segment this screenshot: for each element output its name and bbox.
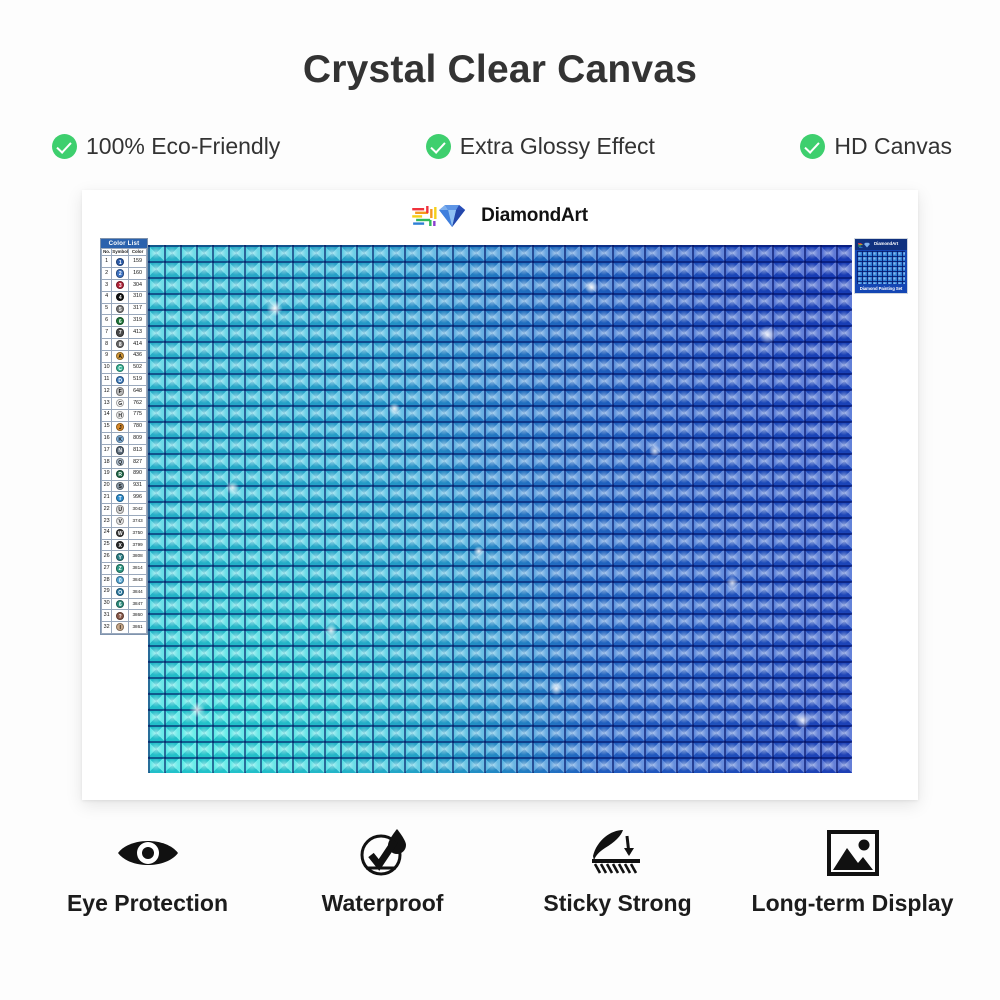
cell-color-code: 3042 xyxy=(129,504,147,516)
table-row: 2803843 xyxy=(102,574,147,586)
eye-icon xyxy=(116,833,180,873)
cell-symbol: G xyxy=(112,397,129,409)
symbol-swatch-icon: ? xyxy=(116,612,124,620)
cell-symbol: U xyxy=(112,504,129,516)
table-row: 13G762 xyxy=(102,397,147,409)
symbol-swatch-icon: S xyxy=(116,482,124,490)
table-row: 29O3844 xyxy=(102,586,147,598)
cell-symbol: 7 xyxy=(112,327,129,339)
column-header-no: No. xyxy=(102,249,112,256)
cell-color-code: 3808 xyxy=(129,551,147,563)
brand-logo: DiamondArt xyxy=(412,202,588,230)
table-row: 21T996 xyxy=(102,492,147,504)
thumbnail-header: DiamondArt xyxy=(855,239,907,250)
cell-no: 5 xyxy=(102,303,112,315)
cell-no: 30 xyxy=(102,598,112,610)
cell-no: 27 xyxy=(102,563,112,575)
cell-symbol: A xyxy=(112,350,129,362)
cell-no: 25 xyxy=(102,539,112,551)
check-circle-icon xyxy=(800,134,825,159)
symbol-swatch-icon: R xyxy=(116,470,124,478)
cell-color-code: 931 xyxy=(129,480,147,492)
color-list-title: Color List xyxy=(101,239,147,248)
symbol-swatch-icon: W xyxy=(116,529,124,537)
symbol-swatch-icon: 2 xyxy=(116,269,124,277)
cell-no: 14 xyxy=(102,409,112,421)
cell-no: 21 xyxy=(102,492,112,504)
cell-color-code: 3750 xyxy=(129,527,147,539)
symbol-swatch-icon: U xyxy=(116,505,124,513)
cell-symbol: D xyxy=(112,374,129,386)
benefit-item-waterproof: Waterproof xyxy=(265,828,500,917)
table-row: 16K809 xyxy=(102,433,147,445)
table-row: 27Z3814 xyxy=(102,563,147,575)
cell-color-code: 3743 xyxy=(129,515,147,527)
cell-no: 32 xyxy=(102,622,112,634)
table-row: 88414 xyxy=(102,338,147,350)
color-list-header-row: No. Symbol Color xyxy=(102,249,147,256)
cell-no: 2 xyxy=(102,268,112,280)
cell-no: 11 xyxy=(102,374,112,386)
droplet-check-icon xyxy=(356,827,410,879)
cell-color-code: 160 xyxy=(129,268,147,280)
diamond-painting-mosaic xyxy=(148,245,852,773)
table-row: 20S931 xyxy=(102,480,147,492)
feature-item: HD Canvas xyxy=(800,133,952,160)
cell-no: 31 xyxy=(102,610,112,622)
color-list-table: Color List No. Symbol Color 111592216033… xyxy=(100,238,148,635)
cell-no: 13 xyxy=(102,397,112,409)
benefit-icon-wrap xyxy=(589,828,647,878)
symbol-swatch-icon: H xyxy=(116,411,124,419)
table-row: 11D519 xyxy=(102,374,147,386)
table-row: 17N813 xyxy=(102,445,147,457)
benefit-label: Sticky Strong xyxy=(543,890,691,917)
cell-symbol: 6 xyxy=(112,598,129,610)
cell-no: 7 xyxy=(102,327,112,339)
cell-no: 8 xyxy=(102,338,112,350)
symbol-swatch-icon: V xyxy=(116,517,124,525)
cell-symbol: X xyxy=(112,539,129,551)
cell-color-code: 3844 xyxy=(129,586,147,598)
table-row: 31?3860 xyxy=(102,610,147,622)
cell-no: 9 xyxy=(102,350,112,362)
benefit-icon-wrap xyxy=(356,828,410,878)
table-row: 15J780 xyxy=(102,421,147,433)
symbol-swatch-icon: O xyxy=(116,588,124,596)
cell-color-code: 310 xyxy=(129,291,147,303)
symbol-swatch-icon: K xyxy=(116,435,124,443)
benefit-icon-wrap xyxy=(827,828,879,878)
table-row: 11159 xyxy=(102,256,147,268)
cell-color-code: 519 xyxy=(129,374,147,386)
product-feature-page: Crystal Clear Canvas 100% Eco-Friendly E… xyxy=(0,0,1000,1000)
cell-color-code: 996 xyxy=(129,492,147,504)
symbol-swatch-icon: G xyxy=(116,399,124,407)
cell-color-code: 648 xyxy=(129,386,147,398)
symbol-swatch-icon: A xyxy=(116,352,124,360)
cell-no: 22 xyxy=(102,504,112,516)
symbol-swatch-icon: 4 xyxy=(116,293,124,301)
feature-list: 100% Eco-Friendly Extra Glossy Effect HD… xyxy=(52,133,952,160)
cell-symbol: 2 xyxy=(112,268,129,280)
cell-color-code: 3799 xyxy=(129,539,147,551)
benefit-label: Long-term Display xyxy=(752,890,954,917)
table-row: 18Q827 xyxy=(102,456,147,468)
table-row: 23V3743 xyxy=(102,515,147,527)
symbol-swatch-icon: 3 xyxy=(116,281,124,289)
symbol-swatch-icon: 0 xyxy=(116,576,124,584)
cell-symbol: R xyxy=(112,468,129,480)
cell-no: 3 xyxy=(102,280,112,292)
feature-label: Extra Glossy Effect xyxy=(460,133,655,160)
cell-no: 10 xyxy=(102,362,112,374)
feature-label: 100% Eco-Friendly xyxy=(86,133,280,160)
symbol-swatch-icon: 8 xyxy=(116,340,124,348)
symbol-swatch-icon: F xyxy=(116,387,124,395)
canvas-preview-card: DiamondArt Color List No. Symbol Color 1… xyxy=(82,190,918,800)
table-row: 55317 xyxy=(102,303,147,315)
table-row: 66319 xyxy=(102,315,147,327)
table-row: 22U3042 xyxy=(102,504,147,516)
thumbnail-mosaic xyxy=(857,251,905,284)
cell-symbol: 3 xyxy=(112,280,129,292)
symbol-swatch-icon: D xyxy=(116,376,124,384)
cell-no: 23 xyxy=(102,515,112,527)
cell-symbol: 6 xyxy=(112,315,129,327)
cell-color-code: 304 xyxy=(129,280,147,292)
cell-color-code: 502 xyxy=(129,362,147,374)
cell-color-code: 813 xyxy=(129,445,147,457)
symbol-swatch-icon: I xyxy=(116,623,124,631)
cell-symbol: ? xyxy=(112,610,129,622)
thumbnail-brand: DiamondArt xyxy=(874,241,898,246)
cell-no: 28 xyxy=(102,574,112,586)
feature-item: 100% Eco-Friendly xyxy=(52,133,280,160)
symbol-swatch-icon: C xyxy=(116,364,124,372)
table-row: 26Y3808 xyxy=(102,551,147,563)
table-row: 12F648 xyxy=(102,386,147,398)
adhesive-icon xyxy=(589,828,647,878)
cell-symbol: N xyxy=(112,445,129,457)
benefit-item-eye-protection: Eye Protection xyxy=(30,828,265,917)
cell-no: 18 xyxy=(102,456,112,468)
cell-symbol: 4 xyxy=(112,291,129,303)
cell-symbol: W xyxy=(112,527,129,539)
cell-no: 17 xyxy=(102,445,112,457)
benefit-label: Waterproof xyxy=(322,890,444,917)
cell-symbol: Q xyxy=(112,456,129,468)
symbol-swatch-icon: 5 xyxy=(116,305,124,313)
cell-symbol: J xyxy=(112,421,129,433)
cell-no: 12 xyxy=(102,386,112,398)
table-row: 14H775 xyxy=(102,409,147,421)
symbol-swatch-icon: N xyxy=(116,446,124,454)
diamond-logo-icon xyxy=(858,242,872,248)
table-row: 77413 xyxy=(102,327,147,339)
symbol-swatch-icon: Z xyxy=(116,564,124,572)
cell-color-code: 3860 xyxy=(129,610,147,622)
benefit-item-long-term-display: Long-term Display xyxy=(735,828,970,917)
diamond-logo-icon xyxy=(412,202,474,230)
cell-no: 24 xyxy=(102,527,112,539)
table-row: 10C502 xyxy=(102,362,147,374)
cell-color-code: 780 xyxy=(129,421,147,433)
cell-symbol: Z xyxy=(112,563,129,575)
cell-no: 6 xyxy=(102,315,112,327)
cell-symbol: O xyxy=(112,586,129,598)
cell-no: 19 xyxy=(102,468,112,480)
cell-color-code: 890 xyxy=(129,468,147,480)
column-header-symbol: Symbol xyxy=(112,249,129,256)
check-circle-icon xyxy=(426,134,451,159)
cell-no: 4 xyxy=(102,291,112,303)
symbol-swatch-icon: Q xyxy=(116,458,124,466)
cell-symbol: V xyxy=(112,515,129,527)
cell-symbol: 0 xyxy=(112,574,129,586)
cell-symbol: S xyxy=(112,480,129,492)
cell-color-code: 827 xyxy=(129,456,147,468)
cell-color-code: 319 xyxy=(129,315,147,327)
cell-symbol: F xyxy=(112,386,129,398)
cell-symbol: Y xyxy=(112,551,129,563)
cell-symbol: T xyxy=(112,492,129,504)
cell-color-code: 3861 xyxy=(129,622,147,634)
symbol-swatch-icon: 7 xyxy=(116,328,124,336)
cell-color-code: 317 xyxy=(129,303,147,315)
table-row: 22160 xyxy=(102,268,147,280)
symbol-swatch-icon: 1 xyxy=(116,258,124,266)
cell-color-code: 775 xyxy=(129,409,147,421)
cell-color-code: 809 xyxy=(129,433,147,445)
symbol-swatch-icon: T xyxy=(116,494,124,502)
cell-color-code: 413 xyxy=(129,327,147,339)
table-row: 24W3750 xyxy=(102,527,147,539)
cell-symbol: 5 xyxy=(112,303,129,315)
benefit-icon-wrap xyxy=(116,828,180,878)
table-row: 44310 xyxy=(102,291,147,303)
mosaic-sparkles xyxy=(148,245,852,773)
image-icon xyxy=(827,830,879,876)
table-row: 33304 xyxy=(102,280,147,292)
cell-symbol: I xyxy=(112,622,129,634)
cell-color-code: 3847 xyxy=(129,598,147,610)
symbol-swatch-icon: J xyxy=(116,423,124,431)
benefit-item-sticky-strong: Sticky Strong xyxy=(500,828,735,917)
feature-label: HD Canvas xyxy=(834,133,952,160)
symbol-swatch-icon: X xyxy=(116,541,124,549)
cell-no: 20 xyxy=(102,480,112,492)
cell-symbol: H xyxy=(112,409,129,421)
cell-color-code: 3814 xyxy=(129,563,147,575)
benefit-list: Eye Protection Waterproof xyxy=(30,828,970,917)
table-row: 25X3799 xyxy=(102,539,147,551)
table-row: 3063847 xyxy=(102,598,147,610)
benefit-label: Eye Protection xyxy=(67,890,228,917)
column-header-color: Color xyxy=(129,249,147,256)
table-row: 32I3861 xyxy=(102,622,147,634)
cell-no: 15 xyxy=(102,421,112,433)
page-title: Crystal Clear Canvas xyxy=(0,48,1000,92)
cell-no: 16 xyxy=(102,433,112,445)
cell-color-code: 3843 xyxy=(129,574,147,586)
cell-color-code: 414 xyxy=(129,338,147,350)
feature-item: Extra Glossy Effect xyxy=(426,133,655,160)
cell-no: 29 xyxy=(102,586,112,598)
thumbnail-caption: Diamond Painting Set xyxy=(855,286,907,291)
cell-symbol: 1 xyxy=(112,256,129,268)
cell-color-code: 159 xyxy=(129,256,147,268)
symbol-swatch-icon: Y xyxy=(116,553,124,561)
symbol-swatch-icon: 6 xyxy=(116,600,124,608)
brand-name: DiamondArt xyxy=(481,205,588,227)
cell-symbol: 8 xyxy=(112,338,129,350)
table-row: 19R890 xyxy=(102,468,147,480)
cell-color-code: 762 xyxy=(129,397,147,409)
cell-color-code: 436 xyxy=(129,350,147,362)
cell-symbol: C xyxy=(112,362,129,374)
cell-no: 1 xyxy=(102,256,112,268)
cell-no: 26 xyxy=(102,551,112,563)
cell-symbol: K xyxy=(112,433,129,445)
product-thumbnail: DiamondArt Diamond Painting Set xyxy=(854,238,908,294)
symbol-swatch-icon: 6 xyxy=(116,317,124,325)
check-circle-icon xyxy=(52,134,77,159)
table-row: 9A436 xyxy=(102,350,147,362)
